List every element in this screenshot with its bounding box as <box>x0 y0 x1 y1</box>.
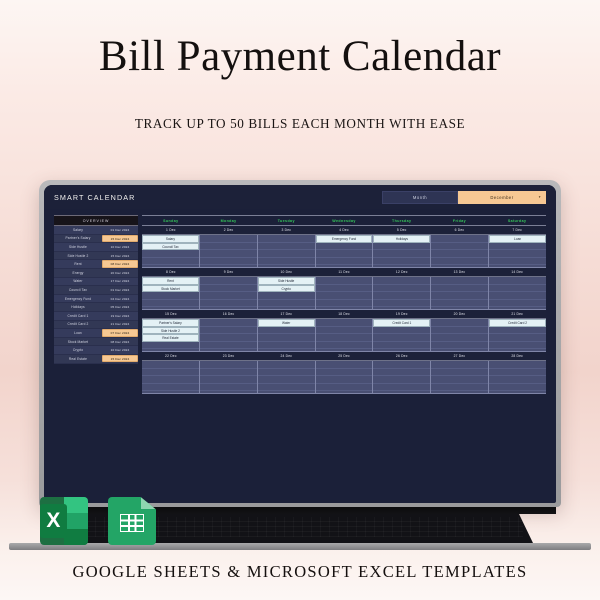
overview-row[interactable]: Council Tax01 Dec 2024 <box>54 286 138 295</box>
calendar-date-label: 15 Dec <box>142 310 200 318</box>
overview-row[interactable]: Side Hustle 215 Dec 2024 <box>54 252 138 261</box>
calendar-date-label: 13 Dec <box>431 268 489 276</box>
calendar-empty-slot[interactable] <box>316 258 373 266</box>
calendar-event[interactable]: Credit Card 1 <box>373 319 430 327</box>
calendar-date-label: 27 Dec <box>431 352 489 360</box>
google-sheets-icon[interactable] <box>108 497 156 545</box>
calendar-date-label: 1 Dec <box>142 226 200 234</box>
calendar-week: 22 Dec23 Dec24 Dec25 Dec26 Dec27 Dec28 D… <box>142 352 546 394</box>
calendar-date-label: 21 Dec <box>488 310 546 318</box>
overview-sidebar: OVERVIEW Salary01 Dec 2024Partner's Sala… <box>54 209 138 503</box>
calendar-empty-slot[interactable] <box>142 376 199 384</box>
calendar-empty-slot[interactable] <box>489 292 546 300</box>
header-controls: Month December ▾ <box>382 191 546 204</box>
calendar-day-cell[interactable]: SalaryCouncil Tax <box>142 235 200 268</box>
app-body: OVERVIEW Salary01 Dec 2024Partner's Sala… <box>44 209 556 503</box>
calendar-empty-slot[interactable] <box>316 334 373 342</box>
calendar-empty-slot[interactable] <box>142 300 199 308</box>
calendar-empty-slot[interactable] <box>489 243 546 251</box>
calendar-empty-slot[interactable] <box>258 300 315 308</box>
calendar-date-label: 10 Dec <box>257 268 315 276</box>
calendar-empty-slot[interactable] <box>142 342 199 350</box>
overview-row-name: Partner's Salary <box>54 236 102 240</box>
overview-row[interactable]: Stock Market08 Dec 2024 <box>54 338 138 347</box>
calendar-cells-row <box>142 361 546 394</box>
overview-row-name: Salary <box>54 228 102 232</box>
overview-row[interactable]: Partner's Salary15 Dec 2024 <box>54 235 138 244</box>
calendar-date-label: 5 Dec <box>373 226 431 234</box>
calendar-empty-slot[interactable] <box>316 285 373 293</box>
calendar-date-label: 18 Dec <box>315 310 373 318</box>
chevron-down-icon: ▾ <box>539 195 541 199</box>
calendar-empty-slot[interactable] <box>200 235 257 243</box>
calendar-empty-slot[interactable] <box>258 384 315 392</box>
calendar-empty-slot[interactable] <box>200 319 257 327</box>
calendar-empty-slot[interactable] <box>431 258 488 266</box>
calendar-empty-slot[interactable] <box>316 300 373 308</box>
overview-header: OVERVIEW <box>54 215 138 226</box>
laptop-mockup: SMART CALENDAR Month December ▾ OVERVIEW… <box>39 180 561 550</box>
page-title: Bill Payment Calendar <box>0 34 600 79</box>
calendar-empty-slot[interactable] <box>431 300 488 308</box>
calendar-day-cell[interactable]: Loan <box>489 235 546 268</box>
calendar-event[interactable]: Council Tax <box>142 243 199 251</box>
overview-row-date: 08 Dec 2024 <box>102 340 138 344</box>
calendar-empty-slot[interactable] <box>489 369 546 377</box>
calendar-empty-slot[interactable] <box>489 342 546 350</box>
calendar-date-label: 19 Dec <box>373 310 431 318</box>
calendar-event[interactable]: Side Hustle 2 <box>142 327 199 335</box>
calendar-empty-slot[interactable] <box>431 277 488 285</box>
overview-row[interactable]: Water17 Dec 2024 <box>54 278 138 287</box>
calendar-empty-slot[interactable] <box>431 384 488 392</box>
overview-row-name: Energy <box>54 271 102 275</box>
calendar-empty-slot[interactable] <box>373 300 430 308</box>
calendar-empty-slot[interactable] <box>373 369 430 377</box>
calendar-empty-slot[interactable] <box>489 277 546 285</box>
calendar-date-label: 24 Dec <box>257 352 315 360</box>
calendar-day-cell[interactable] <box>489 277 546 310</box>
calendar-empty-slot[interactable] <box>258 342 315 350</box>
calendar-grid: SundayMondayTuesdayWednesdayThursdayFrid… <box>138 209 546 503</box>
overview-row-name: Holidays <box>54 305 102 309</box>
calendar-empty-slot[interactable] <box>258 376 315 384</box>
calendar-week: 8 Dec9 Dec10 Dec11 Dec12 Dec13 Dec14 Dec… <box>142 268 546 310</box>
calendar-empty-slot[interactable] <box>489 250 546 258</box>
overview-row[interactable]: Energy20 Dec 2024 <box>54 269 138 278</box>
calendar-weeks: 1 Dec2 Dec3 Dec4 Dec5 Dec6 Dec7 DecSalar… <box>142 226 546 394</box>
calendar-date-label: 28 Dec <box>488 352 546 360</box>
overview-row-date: 05 Dec 2024 <box>102 305 138 309</box>
calendar-day-cell[interactable] <box>200 235 258 268</box>
calendar-cells-row: SalaryCouncil TaxEmergency FundHolidaysL… <box>142 235 546 268</box>
calendar-empty-slot[interactable] <box>316 327 373 335</box>
calendar-day-cell[interactable] <box>316 277 374 310</box>
calendar-empty-slot[interactable] <box>200 376 257 384</box>
calendar-cells-row: Partner's SalarySide Hustle 2Real Estate… <box>142 319 546 352</box>
calendar-empty-slot[interactable] <box>142 292 199 300</box>
day-of-week-label: Saturday <box>488 216 546 225</box>
calendar-empty-slot[interactable] <box>200 285 257 293</box>
calendar-empty-slot[interactable] <box>258 250 315 258</box>
calendar-empty-slot[interactable] <box>142 384 199 392</box>
calendar-day-cell[interactable]: Water <box>258 319 316 352</box>
calendar-empty-slot[interactable] <box>373 292 430 300</box>
calendar-date-label: 14 Dec <box>488 268 546 276</box>
calendar-empty-slot[interactable] <box>431 361 488 369</box>
overview-row-name: Loan <box>54 331 102 335</box>
calendar-date-label: 8 Dec <box>142 268 200 276</box>
calendar-date-label: 11 Dec <box>315 268 373 276</box>
calendar-day-cell[interactable] <box>258 235 316 268</box>
calendar-empty-slot[interactable] <box>373 285 430 293</box>
calendar-date-row: 15 Dec16 Dec17 Dec18 Dec19 Dec20 Dec21 D… <box>142 310 546 319</box>
calendar-event[interactable]: Side Hustle <box>258 277 315 285</box>
overview-row[interactable]: Credit Card 119 Dec 2024 <box>54 312 138 321</box>
calendar-day-cell[interactable] <box>431 235 489 268</box>
calendar-empty-slot[interactable] <box>258 235 315 243</box>
excel-icon-quad-3 <box>64 529 88 545</box>
calendar-empty-slot[interactable] <box>431 376 488 384</box>
day-of-week-label: Monday <box>200 216 258 225</box>
calendar-empty-slot[interactable] <box>431 250 488 258</box>
microsoft-excel-icon[interactable]: X <box>40 497 88 545</box>
calendar-empty-slot[interactable] <box>489 334 546 342</box>
calendar-empty-slot[interactable] <box>316 277 373 285</box>
calendar-empty-slot[interactable] <box>258 327 315 335</box>
app-header-bar: SMART CALENDAR Month December ▾ <box>44 185 556 209</box>
calendar-empty-slot[interactable] <box>200 342 257 350</box>
calendar-date-label: 6 Dec <box>431 226 489 234</box>
excel-icon-letter: X <box>40 504 67 539</box>
calendar-empty-slot[interactable] <box>373 342 430 350</box>
overview-row-name: Council Tax <box>54 288 102 292</box>
calendar-day-cell[interactable] <box>373 277 431 310</box>
page-subtitle: TRACK UP TO 50 BILLS EACH MONTH WITH EAS… <box>0 116 600 132</box>
calendar-empty-slot[interactable] <box>489 384 546 392</box>
laptop-lid: SMART CALENDAR Month December ▾ OVERVIEW… <box>39 180 561 507</box>
calendar-empty-slot[interactable] <box>373 277 430 285</box>
calendar-date-row: 1 Dec2 Dec3 Dec4 Dec5 Dec6 Dec7 Dec <box>142 226 546 235</box>
calendar-event[interactable]: Salary <box>142 235 199 243</box>
calendar-date-label: 17 Dec <box>257 310 315 318</box>
day-of-week-label: Friday <box>431 216 489 225</box>
calendar-date-label: 20 Dec <box>431 310 489 318</box>
overview-row-date: 20 Dec 2024 <box>102 271 138 275</box>
overview-row[interactable]: Rent08 Dec 2024 <box>54 260 138 269</box>
calendar-empty-slot[interactable] <box>373 327 430 335</box>
day-of-week-label: Wednesday <box>315 216 373 225</box>
calendar-day-cell[interactable]: Partner's SalarySide Hustle 2Real Estate <box>142 319 200 352</box>
calendar-date-label: 22 Dec <box>142 352 200 360</box>
sheets-icon-fold <box>141 497 156 509</box>
overview-row-name: Emergency Fund <box>54 297 102 301</box>
calendar-event[interactable]: Credit Card 2 <box>489 319 546 327</box>
overview-row-date: 10 Dec 2024 <box>102 348 138 352</box>
overview-row-name: Water <box>54 279 102 283</box>
calendar-date-label: 23 Dec <box>200 352 258 360</box>
calendar-date-label: 7 Dec <box>488 226 546 234</box>
overview-row[interactable]: Real Estate15 Dec 2024 <box>54 355 138 364</box>
calendar-day-cell[interactable] <box>431 361 489 394</box>
calendar-empty-slot[interactable] <box>200 327 257 335</box>
excel-icon-quad-2 <box>64 513 88 529</box>
calendar-empty-slot[interactable] <box>431 285 488 293</box>
calendar-date-row: 8 Dec9 Dec10 Dec11 Dec12 Dec13 Dec14 Dec <box>142 268 546 277</box>
calendar-empty-slot[interactable] <box>258 258 315 266</box>
overview-row[interactable]: Salary01 Dec 2024 <box>54 226 138 235</box>
calendar-empty-slot[interactable] <box>373 243 430 251</box>
overview-row-name: Credit Card 1 <box>54 314 102 318</box>
calendar-date-label: 3 Dec <box>257 226 315 234</box>
calendar-empty-slot[interactable] <box>489 300 546 308</box>
calendar-empty-slot[interactable] <box>200 292 257 300</box>
calendar-date-label: 9 Dec <box>200 268 258 276</box>
calendar-empty-slot[interactable] <box>431 319 488 327</box>
calendar-empty-slot[interactable] <box>431 342 488 350</box>
day-of-week-header: SundayMondayTuesdayWednesdayThursdayFrid… <box>142 215 546 226</box>
calendar-empty-slot[interactable] <box>489 361 546 369</box>
calendar-empty-slot[interactable] <box>258 334 315 342</box>
overview-row-date: 15 Dec 2024 <box>102 235 138 242</box>
calendar-date-label: 26 Dec <box>373 352 431 360</box>
calendar-date-label: 4 Dec <box>315 226 373 234</box>
overview-row[interactable]: Credit Card 221 Dec 2024 <box>54 321 138 330</box>
calendar-cells-row: RentStock MarketSide HustleCrypto <box>142 277 546 310</box>
overview-row-date: 19 Dec 2024 <box>102 314 138 318</box>
calendar-week: 1 Dec2 Dec3 Dec4 Dec5 Dec6 Dec7 DecSalar… <box>142 226 546 268</box>
calendar-date-label: 25 Dec <box>315 352 373 360</box>
calendar-empty-slot[interactable] <box>431 327 488 335</box>
calendar-date-label: 12 Dec <box>373 268 431 276</box>
calendar-empty-slot[interactable] <box>373 250 430 258</box>
app-title: SMART CALENDAR <box>54 193 135 202</box>
calendar-empty-slot[interactable] <box>316 369 373 377</box>
calendar-day-cell[interactable] <box>489 361 546 394</box>
calendar-empty-slot[interactable] <box>200 277 257 285</box>
calendar-empty-slot[interactable] <box>258 361 315 369</box>
calendar-day-cell[interactable] <box>431 277 489 310</box>
calendar-empty-slot[interactable] <box>200 258 257 266</box>
day-of-week-label: Sunday <box>142 216 200 225</box>
calendar-empty-slot[interactable] <box>489 327 546 335</box>
overview-row[interactable]: Loan07 Dec 2024 <box>54 329 138 338</box>
calendar-event[interactable]: Holidays <box>373 235 430 243</box>
overview-row-date: 17 Dec 2024 <box>102 279 138 283</box>
calendar-empty-slot[interactable] <box>200 300 257 308</box>
calendar-empty-slot[interactable] <box>258 243 315 251</box>
calendar-day-cell[interactable] <box>142 361 200 394</box>
calendar-event[interactable]: Rent <box>142 277 199 285</box>
calendar-empty-slot[interactable] <box>316 376 373 384</box>
calendar-empty-slot[interactable] <box>489 376 546 384</box>
calendar-empty-slot[interactable] <box>316 361 373 369</box>
calendar-empty-slot[interactable] <box>316 319 373 327</box>
calendar-empty-slot[interactable] <box>142 250 199 258</box>
calendar-date-label: 2 Dec <box>200 226 258 234</box>
calendar-event[interactable]: Partner's Salary <box>142 319 199 327</box>
overview-row-date: 10 Dec 2024 <box>102 245 138 249</box>
overview-row[interactable]: Side Hustle10 Dec 2024 <box>54 243 138 252</box>
calendar-event[interactable]: Water <box>258 319 315 327</box>
calendar-day-cell[interactable]: Credit Card 1 <box>373 319 431 352</box>
overview-row-name: Real Estate <box>54 357 102 361</box>
calendar-empty-slot[interactable] <box>431 334 488 342</box>
calendar-date-row: 22 Dec23 Dec24 Dec25 Dec26 Dec27 Dec28 D… <box>142 352 546 361</box>
calendar-empty-slot[interactable] <box>431 369 488 377</box>
calendar-empty-slot[interactable] <box>431 243 488 251</box>
calendar-empty-slot[interactable] <box>431 235 488 243</box>
calendar-day-cell[interactable] <box>258 361 316 394</box>
calendar-event[interactable]: Crypto <box>258 285 315 293</box>
calendar-empty-slot[interactable] <box>316 250 373 258</box>
overview-row-date: 15 Dec 2024 <box>102 254 138 258</box>
calendar-empty-slot[interactable] <box>200 250 257 258</box>
calendar-empty-slot[interactable] <box>142 361 199 369</box>
calendar-empty-slot[interactable] <box>142 369 199 377</box>
day-of-week-label: Thursday <box>373 216 431 225</box>
calendar-empty-slot[interactable] <box>200 334 257 342</box>
overview-row-date: 21 Dec 2024 <box>102 322 138 326</box>
overview-row-name: Rent <box>54 262 102 266</box>
calendar-day-cell[interactable] <box>316 361 374 394</box>
overview-row-date: 08 Dec 2024 <box>102 260 138 267</box>
calendar-day-cell[interactable]: Emergency Fund <box>316 235 374 268</box>
footer-text: GOOGLE SHEETS & MICROSOFT EXCEL TEMPLATE… <box>0 562 600 582</box>
month-select-dropdown[interactable]: December ▾ <box>458 191 546 204</box>
calendar-empty-slot[interactable] <box>200 384 257 392</box>
day-of-week-label: Tuesday <box>257 216 315 225</box>
calendar-event[interactable]: Emergency Fund <box>316 235 373 243</box>
calendar-date-label: 16 Dec <box>200 310 258 318</box>
overview-row-name: Stock Market <box>54 340 102 344</box>
calendar-empty-slot[interactable] <box>142 258 199 266</box>
overview-row-date: 15 Dec 2024 <box>102 355 138 362</box>
overview-row[interactable]: Holidays05 Dec 2024 <box>54 303 138 312</box>
month-label-button[interactable]: Month <box>382 191 458 204</box>
calendar-empty-slot[interactable] <box>316 243 373 251</box>
overview-list: Salary01 Dec 2024Partner's Salary15 Dec … <box>54 226 138 364</box>
calendar-day-cell[interactable] <box>431 319 489 352</box>
calendar-empty-slot[interactable] <box>316 384 373 392</box>
excel-icon-quad-1 <box>64 497 88 513</box>
calendar-day-cell[interactable] <box>316 319 374 352</box>
calendar-empty-slot[interactable] <box>489 285 546 293</box>
calendar-empty-slot[interactable] <box>258 369 315 377</box>
overview-row-name: Side Hustle <box>54 245 102 249</box>
calendar-day-cell[interactable]: Credit Card 2 <box>489 319 546 352</box>
overview-row-name: Credit Card 2 <box>54 322 102 326</box>
calendar-day-cell[interactable] <box>200 319 258 352</box>
calendar-empty-slot[interactable] <box>431 292 488 300</box>
overview-row-date: 01 Dec 2024 <box>102 228 138 232</box>
calendar-day-cell[interactable]: RentStock Market <box>142 277 200 310</box>
calendar-empty-slot[interactable] <box>373 384 430 392</box>
calendar-empty-slot[interactable] <box>316 342 373 350</box>
overview-row-date: 01 Dec 2024 <box>102 288 138 292</box>
calendar-empty-slot[interactable] <box>200 369 257 377</box>
sheets-icon-table <box>120 514 143 531</box>
calendar-empty-slot[interactable] <box>373 376 430 384</box>
calendar-day-cell[interactable] <box>373 361 431 394</box>
calendar-empty-slot[interactable] <box>200 361 257 369</box>
calendar-day-cell[interactable] <box>200 361 258 394</box>
calendar-week: 15 Dec16 Dec17 Dec18 Dec19 Dec20 Dec21 D… <box>142 310 546 352</box>
overview-row[interactable]: Crypto10 Dec 2024 <box>54 346 138 355</box>
calendar-event[interactable]: Stock Market <box>142 285 199 293</box>
calendar-empty-slot[interactable] <box>200 243 257 251</box>
overview-row-date: 04 Dec 2024 <box>102 297 138 301</box>
calendar-event[interactable]: Real Estate <box>142 334 199 342</box>
calendar-empty-slot[interactable] <box>373 334 430 342</box>
overview-row-date: 07 Dec 2024 <box>102 329 138 336</box>
calendar-empty-slot[interactable] <box>316 292 373 300</box>
promo-header: Bill Payment Calendar TRACK UP TO 50 BIL… <box>0 0 600 132</box>
calendar-day-cell[interactable]: Side HustleCrypto <box>258 277 316 310</box>
laptop-screen: SMART CALENDAR Month December ▾ OVERVIEW… <box>44 185 556 503</box>
template-format-icons: X <box>40 497 156 545</box>
overview-row[interactable]: Emergency Fund04 Dec 2024 <box>54 295 138 304</box>
calendar-day-cell[interactable]: Holidays <box>373 235 431 268</box>
calendar-empty-slot[interactable] <box>489 258 546 266</box>
calendar-empty-slot[interactable] <box>258 292 315 300</box>
calendar-day-cell[interactable] <box>200 277 258 310</box>
calendar-empty-slot[interactable] <box>373 258 430 266</box>
calendar-empty-slot[interactable] <box>373 361 430 369</box>
calendar-event[interactable]: Loan <box>489 235 546 243</box>
overview-row-name: Crypto <box>54 348 102 352</box>
overview-row-name: Side Hustle 2 <box>54 254 102 258</box>
month-select-value: December <box>490 195 513 200</box>
